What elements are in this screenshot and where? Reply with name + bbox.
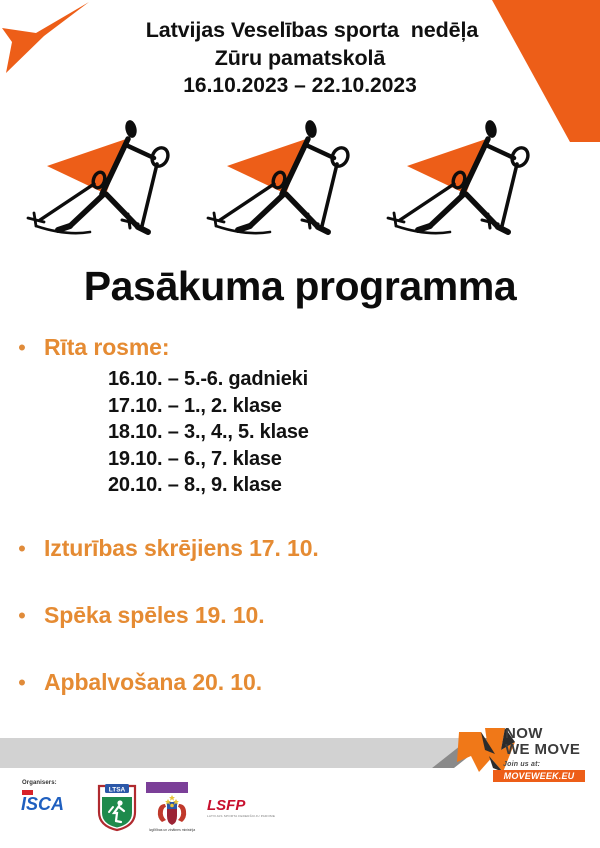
program-item: Apbalvošana 20. 10. — [0, 665, 600, 700]
organisers-strip: Organisers: ISCA LTSA — [14, 780, 294, 840]
poster-root: Latvijas Veselības sporta nedēļa Zūru pa… — [0, 0, 600, 848]
list-item: 16.10. – 5.-6. gadnieki — [108, 366, 600, 393]
lsfp-caption: LATVIJAS SPORTA FEDERĀCIJU PADOME — [207, 814, 275, 818]
program-item: Rīta rosme: 16.10. – 5.-6. gadnieki 17.1… — [0, 330, 600, 499]
bullet-icon — [0, 532, 44, 566]
nwm-line-2: WE MOVE — [505, 742, 580, 758]
nordic-walker-figure — [194, 114, 384, 254]
ltsa-wordmark: LTSA — [109, 786, 126, 793]
spacer — [0, 633, 600, 665]
spacer — [0, 566, 600, 598]
now-we-move-wordmark: NOW WE MOVE — [505, 726, 580, 758]
poster-header: Latvijas Veselības sporta nedēļa Zūru pa… — [0, 16, 600, 100]
list-item: 19.10. – 6., 7. klase — [108, 446, 600, 473]
spacer — [0, 499, 600, 531]
program-item: Izturības skrējiens 17. 10. — [0, 531, 600, 566]
lsfp-wordmark: LSFP — [207, 797, 246, 814]
izm-logo: Izglītības un zinātnes ministrija — [142, 780, 202, 838]
list-item: 20.10. – 8., 9. klase — [108, 472, 600, 499]
program-item-label: Izturības skrējiens 17. 10. — [44, 531, 319, 565]
list-item: 17.10. – 1., 2. klase — [108, 393, 600, 420]
izm-caption: Izglītības un zinātnes ministrija — [149, 828, 195, 832]
walkers-illustration — [0, 114, 600, 254]
page-title: Pasākuma programma — [0, 262, 600, 310]
program-item: Spēka spēles 19. 10. — [0, 598, 600, 633]
program-item-label: Rīta rosme: — [44, 330, 169, 364]
program-sublist: 16.10. – 5.-6. gadnieki 17.10. – 1., 2. … — [0, 366, 600, 499]
program-item-label: Apbalvošana 20. 10. — [44, 665, 262, 699]
isca-logo: ISCA — [20, 789, 82, 813]
header-line-1: Latvijas Veselības sporta nedēļa — [0, 16, 600, 44]
organisers-label: Organisers: — [22, 780, 57, 786]
isca-wordmark: ISCA — [21, 794, 64, 813]
nwm-line-1: NOW — [505, 726, 580, 742]
moveweek-url[interactable]: MOVEWEEK.EU — [493, 770, 585, 782]
program-list: Rīta rosme: 16.10. – 5.-6. gadnieki 17.1… — [0, 330, 600, 700]
lsfp-logo: LSFP LATVIJAS SPORTA FEDERĀCIJU PADOME — [204, 794, 276, 820]
ltsa-logo: LTSA — [96, 782, 138, 832]
join-us-label: Join us at: — [503, 761, 540, 768]
nordic-walker-figure — [14, 114, 204, 254]
nordic-walker-figure — [374, 114, 564, 254]
program-item-label: Spēka spēles 19. 10. — [44, 598, 265, 632]
bullet-icon — [0, 666, 44, 700]
list-item: 18.10. – 3., 4., 5. klase — [108, 419, 600, 446]
header-line-2: Zūru pamatskolā — [0, 44, 600, 72]
bullet-icon — [0, 331, 44, 365]
bullet-icon — [0, 599, 44, 633]
header-line-3-dates: 16.10.2023 – 22.10.2023 — [0, 72, 600, 100]
